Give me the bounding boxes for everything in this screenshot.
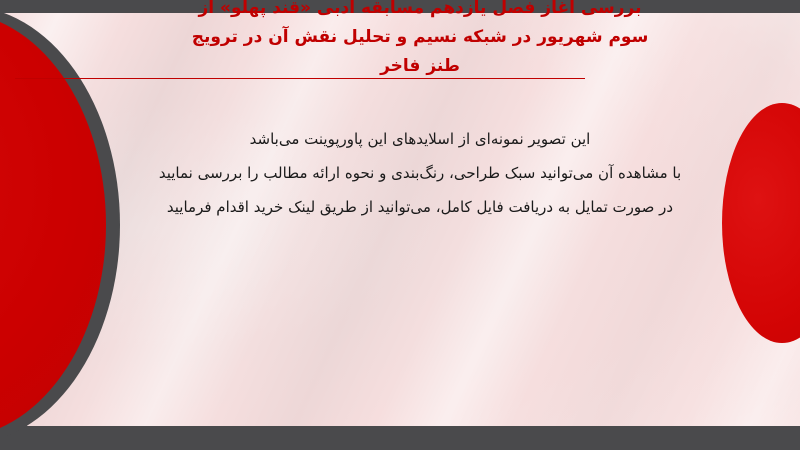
presentation-slide: بررسی آغاز فصل یازدهم مسابقه ادبی «قند پ… bbox=[0, 0, 800, 450]
title-line-1: بررسی آغاز فصل یازدهم مسابقه ادبی «قند پ… bbox=[120, 0, 720, 23]
body-line-2: با مشاهده آن می‌توانید سبک طراحی، رنگ‌بن… bbox=[110, 156, 730, 190]
title-line-2: سوم شهریور در شبکه نسیم و تحلیل نقش آن د… bbox=[120, 23, 720, 52]
title-underline-rule bbox=[15, 78, 585, 79]
body-line-1: این تصویر نمونه‌ای از اسلایدهای این پاور… bbox=[110, 122, 730, 156]
slide-title: بررسی آغاز فصل یازدهم مسابقه ادبی «قند پ… bbox=[120, 0, 720, 81]
body-line-3: در صورت تمایل به دریافت فایل کامل، می‌تو… bbox=[110, 190, 730, 224]
bottom-frame-band bbox=[0, 426, 800, 450]
slide-body-text: این تصویر نمونه‌ای از اسلایدهای این پاور… bbox=[110, 122, 730, 224]
title-line-3: طنز فاخر bbox=[120, 52, 720, 81]
